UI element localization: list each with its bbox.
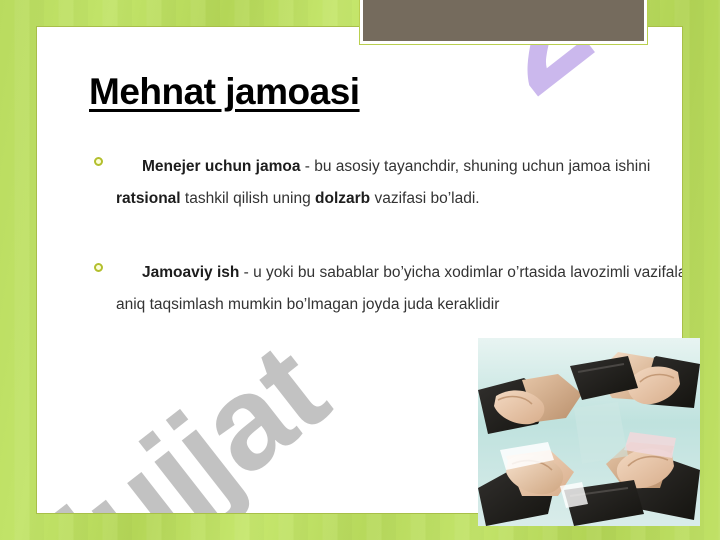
circle-bullet-icon [94, 263, 103, 272]
bullet-lead-term: Jamoaviy ish [142, 264, 239, 281]
bullet-body-text-3: vazifasi bo’ladi. [370, 190, 479, 207]
list-item: Jamoaviy ish - u yoki bu sabablar bo’yic… [89, 257, 683, 321]
list-item: Menejer uchun jamoa - bu asosiy tayanchd… [89, 151, 683, 215]
bullet-lead-term: Menejer uchun jamoa [142, 158, 300, 175]
teamwork-photo-illustration [478, 338, 700, 526]
bullet-paragraph: Menejer uchun jamoa - bu asosiy tayanchd… [89, 151, 683, 215]
bullet-emphasis-term: ratsional [116, 190, 181, 207]
bullet-emphasis-term-2: dolzarb [315, 190, 370, 207]
page-title: Mehnat jamoasi [89, 71, 360, 113]
presentation-slide: 24 Hujjat Mehnat jamoasi Menejer uchun j… [0, 0, 720, 540]
bullet-list: Menejer uchun jamoa - bu asosiy tayanchd… [89, 151, 683, 363]
header-banner-block [360, 0, 647, 44]
bullet-body-text: - bu asosiy tayanchdir, shuning uchun ja… [300, 158, 650, 175]
bullet-paragraph: Jamoaviy ish - u yoki bu sabablar bo’yic… [89, 257, 683, 321]
teamwork-photo [478, 338, 700, 526]
circle-bullet-icon [94, 157, 103, 166]
bullet-body-text-2: tashkil qilish uning [181, 190, 315, 207]
